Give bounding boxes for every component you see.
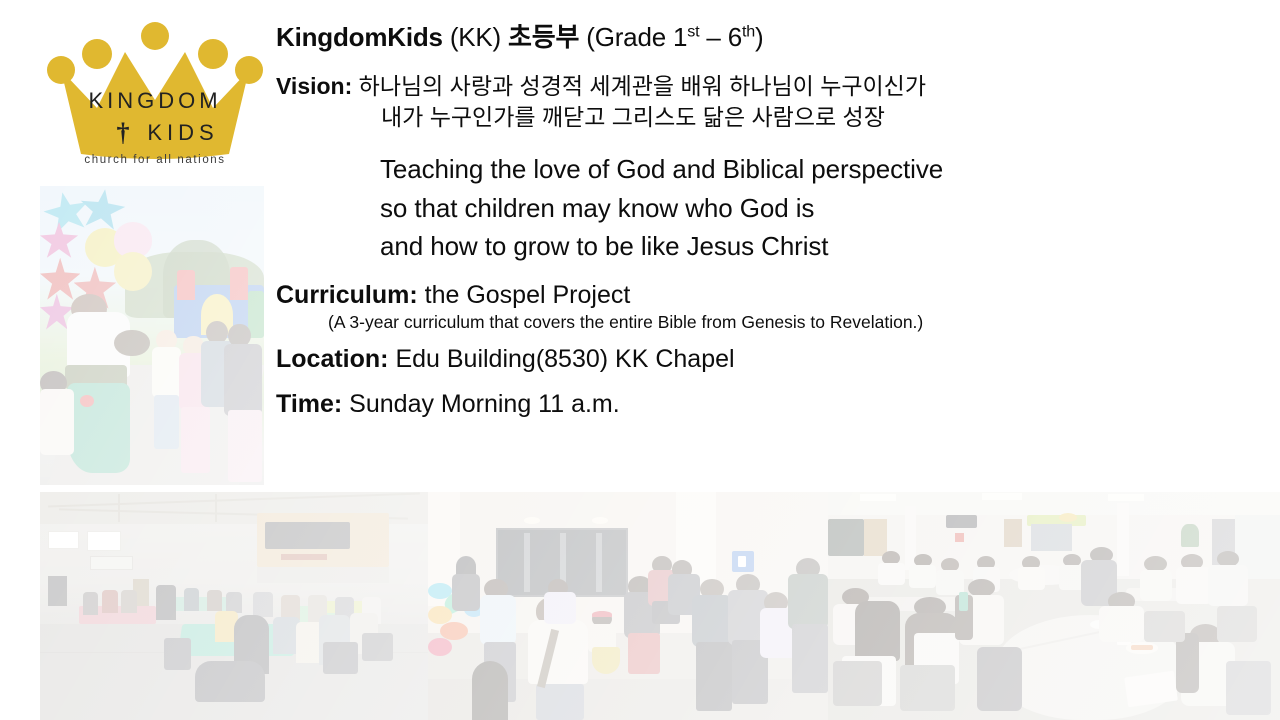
logo-kids-text: KIDS [147, 120, 218, 145]
photo-balloons-backdrop [40, 186, 264, 485]
title-kk: (KK) [443, 22, 508, 52]
title-korean: 초등부 [508, 22, 579, 52]
logo-tagline: church for all nations [45, 154, 265, 166]
photo-gym-backdrop [40, 492, 428, 720]
photo-hall-backdrop [828, 492, 1280, 720]
photo-gym [40, 492, 428, 720]
title-sup-st: st [687, 22, 699, 40]
title-grade: (Grade 1 [579, 22, 687, 52]
photo-outside-backdrop [428, 492, 828, 720]
english-vision-section: Teaching the love of God and Biblical pe… [276, 150, 1266, 265]
vision-line-1: Vision: 하나님의 사랑과 성경적 세계관을 배워 하나님이 누구이신가 [276, 71, 1266, 102]
photo-hall [828, 492, 1280, 720]
vision-label: Vision: [276, 73, 352, 99]
title-kingdomkids: KingdomKids [276, 22, 443, 52]
time-section: Time: Sunday Morning 11 a.m. [276, 390, 1266, 419]
content-text-block: KingdomKids (KK) 초등부 (Grade 1st – 6th) V… [276, 22, 1266, 419]
vision-section: Vision: 하나님의 사랑과 성경적 세계관을 배워 하나님이 누구이신가 … [276, 71, 1266, 132]
curriculum-line: Curriculum: the Gospel Project [276, 281, 1266, 310]
curriculum-label: Curriculum: [276, 281, 418, 309]
kingdom-kids-logo: KINGDOM † KIDS church for all nations [45, 12, 265, 187]
photo-outside [428, 492, 828, 720]
english-line-3: and how to grow to be like Jesus Christ [380, 227, 1266, 265]
curriculum-section: Curriculum: the Gospel Project (A 3-year… [276, 281, 1266, 333]
cross-icon: † [117, 118, 130, 147]
curriculum-value: the Gospel Project [418, 281, 631, 309]
vision-line-2: 내가 누구인가를 깨닫고 그리스도 닮은 사람으로 성장 [276, 102, 1266, 133]
time-value: Sunday Morning 11 a.m. [342, 390, 619, 418]
time-label: Time: [276, 390, 342, 418]
location-label: Location: [276, 345, 389, 373]
title-dash: – 6 [699, 22, 742, 52]
title-sup-th: th [742, 22, 755, 40]
english-line-1: Teaching the love of God and Biblical pe… [380, 150, 1266, 188]
vision-korean-line-1: 하나님의 사랑과 성경적 세계관을 배워 하나님이 누구이신가 [359, 73, 926, 99]
location-value: Edu Building(8530) KK Chapel [389, 345, 735, 373]
photo-balloons [40, 186, 264, 485]
logo-kingdom-text: KINGDOM [88, 88, 221, 113]
curriculum-note: (A 3-year curriculum that covers the ent… [276, 312, 1266, 333]
title-close-paren: ) [755, 22, 763, 52]
slide-root: KINGDOM † KIDS church for all nations [0, 0, 1280, 720]
english-line-2: so that children may know who God is [380, 189, 1266, 227]
page-title: KingdomKids (KK) 초등부 (Grade 1st – 6th) [276, 22, 1266, 53]
location-section: Location: Edu Building(8530) KK Chapel [276, 345, 1266, 374]
